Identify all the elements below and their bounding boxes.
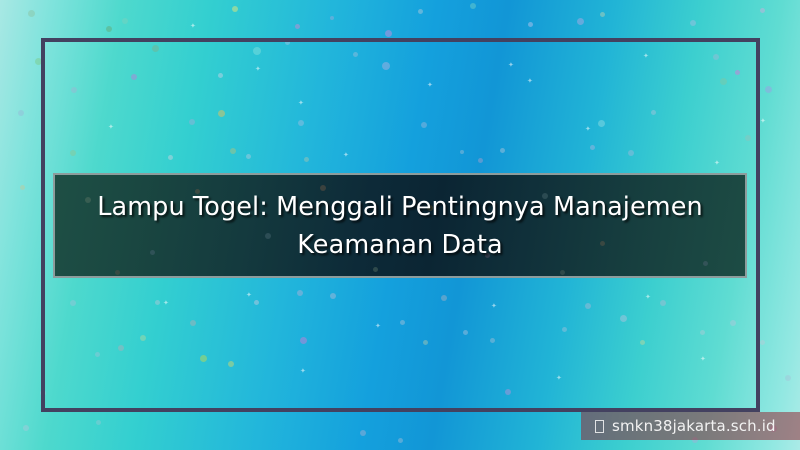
sparkle-icon: ✦ [760,118,766,125]
confetti-dot [385,30,392,37]
confetti-dot [18,110,24,116]
confetti-dot [528,22,533,27]
confetti-dot [560,270,565,275]
confetti-dot [360,430,366,436]
confetti-dot [765,86,772,93]
confetti-dot [28,10,35,17]
confetti-dot [20,185,25,190]
page-title: Lampu Togel: Menggali Pentingnya Manajem… [56,188,744,264]
sparkle-icon: ✦ [190,23,196,30]
hero-card-canvas: ✦✦✦✦✦✦✦✦✦✦✦✦✦✦✦✦✦✦✦✦ Lampu Togel: Mengga… [0,0,800,450]
confetti-dot [418,9,423,14]
confetti-dot [785,375,791,381]
source-badge-label: smkn38jakarta.sch.id [612,417,776,435]
confetti-dot [106,26,112,32]
confetti-dot [600,12,605,17]
confetti-dot [23,425,29,431]
confetti-dot [760,8,765,13]
confetti-dot [760,340,765,345]
confetti-dot [232,6,238,12]
missing-glyph-box-icon [595,420,604,433]
confetti-dot [115,270,120,275]
confetti-dot [373,267,378,272]
confetti-dot [295,24,300,29]
title-plate: Lampu Togel: Menggali Pentingnya Manajem… [53,173,747,278]
confetti-dot [398,438,403,443]
source-badge[interactable]: smkn38jakarta.sch.id [581,412,800,440]
confetti-dot [470,3,476,9]
confetti-dot [577,18,584,25]
confetti-dot [96,420,101,425]
confetti-dot [690,20,696,26]
confetti-dot [122,18,128,24]
confetti-dot [330,16,334,20]
